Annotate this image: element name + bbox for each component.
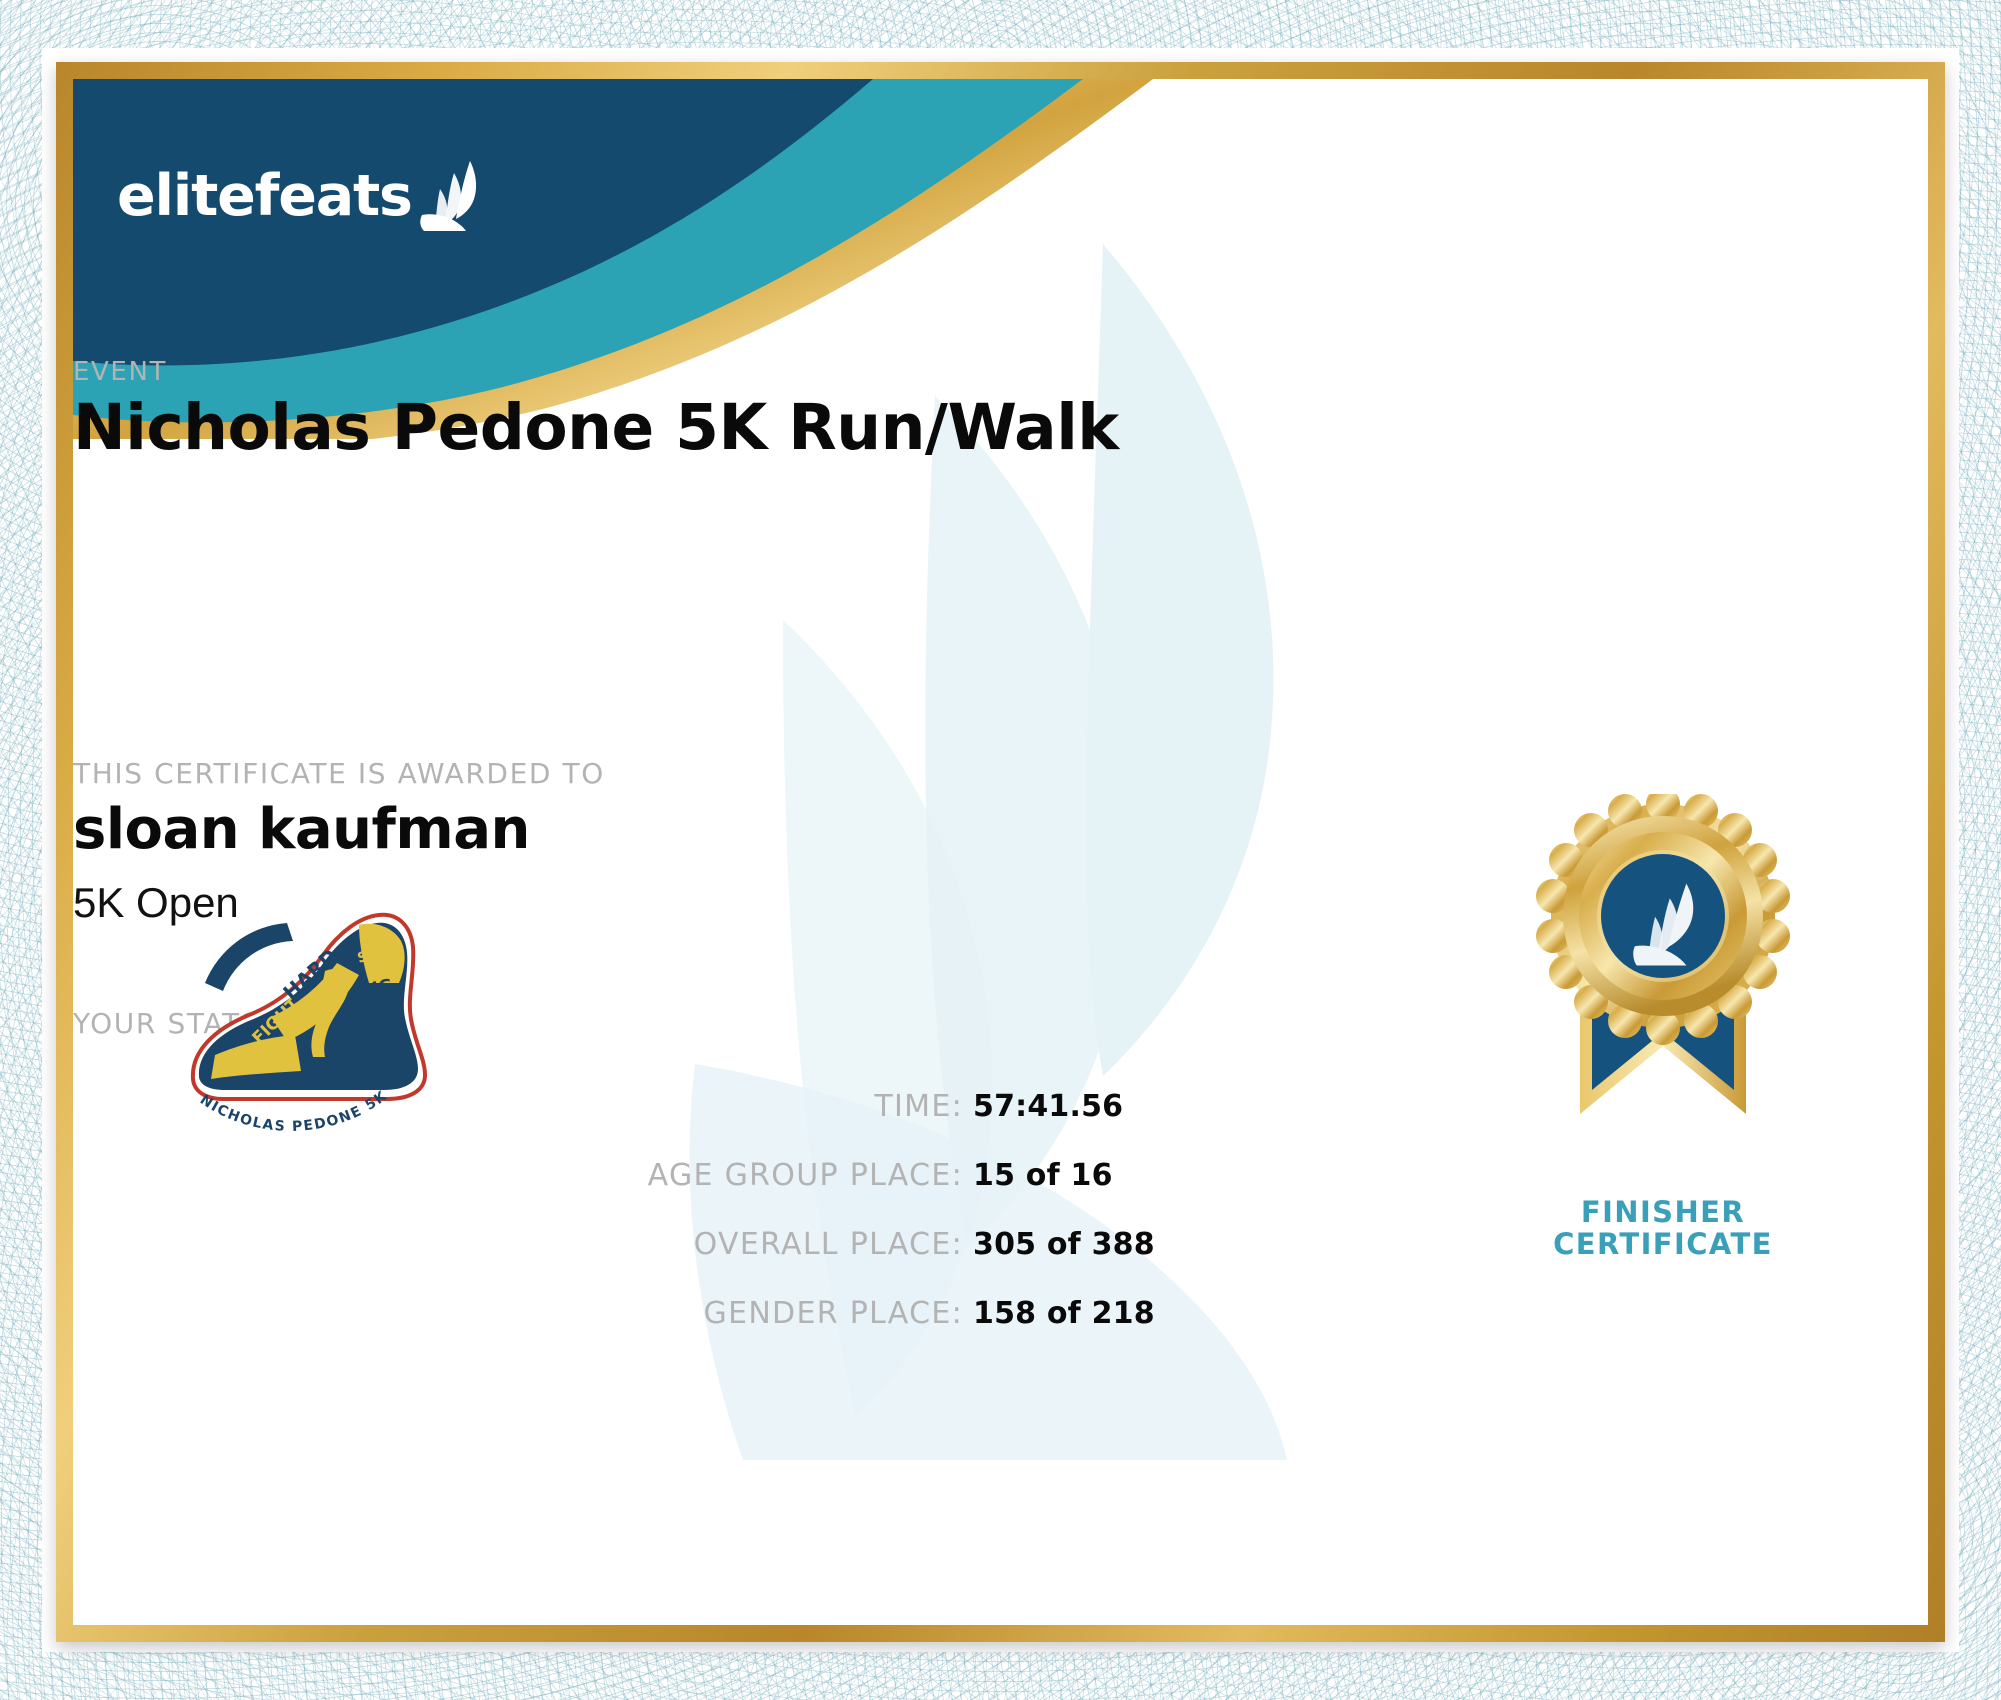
stats-list: TIME: 57:41.56 AGE GROUP PLACE: 15 of 16… — [403, 1089, 1443, 1365]
brand-name: elitefeats — [117, 163, 412, 229]
stat-value: 57:41.56 — [973, 1089, 1123, 1124]
certificate-page: elitefeats EVENT Nicholas Pedone 5K Run/… — [0, 0, 2001, 1700]
finisher-medal: 2022 — [1518, 794, 1808, 1274]
race-logo-icon: FIGHT HARD SMILE BIG 9TH ANNUAL NICHOLAS… — [163, 879, 463, 1149]
finisher-caption-line1: FINISHER — [1518, 1196, 1808, 1228]
awarded-to-label: THIS CERTIFICATE IS AWARDED TO — [73, 757, 1928, 790]
stat-row-time: TIME: 57:41.56 — [403, 1089, 1443, 1124]
stat-value: 305 of 388 — [973, 1227, 1155, 1262]
stat-value: 15 of 16 — [973, 1158, 1113, 1193]
stat-value: 158 of 218 — [973, 1296, 1155, 1331]
stat-row-gender-place: GENDER PLACE: 158 of 218 — [403, 1296, 1443, 1331]
brand-logo: elitefeats — [117, 159, 490, 233]
stat-label: TIME: — [403, 1089, 963, 1124]
stat-label: OVERALL PLACE: — [403, 1227, 963, 1262]
event-label: EVENT — [73, 357, 1928, 387]
stat-row-overall-place: OVERALL PLACE: 305 of 388 — [403, 1227, 1443, 1262]
gold-frame: elitefeats EVENT Nicholas Pedone 5K Run/… — [56, 62, 1945, 1642]
finisher-caption-line2: CERTIFICATE — [1518, 1228, 1808, 1260]
event-title: Nicholas Pedone 5K Run/Walk — [73, 391, 1928, 464]
stat-row-age-group-place: AGE GROUP PLACE: 15 of 16 — [403, 1158, 1443, 1193]
stat-label: AGE GROUP PLACE: — [403, 1158, 963, 1193]
certificate-card: elitefeats EVENT Nicholas Pedone 5K Run/… — [73, 79, 1928, 1625]
finisher-caption: FINISHER CERTIFICATE — [1518, 1196, 1808, 1261]
winged-foot-icon — [418, 159, 490, 233]
stat-label: GENDER PLACE: — [403, 1296, 963, 1331]
finisher-medal-icon: 2022 — [1518, 794, 1808, 1194]
